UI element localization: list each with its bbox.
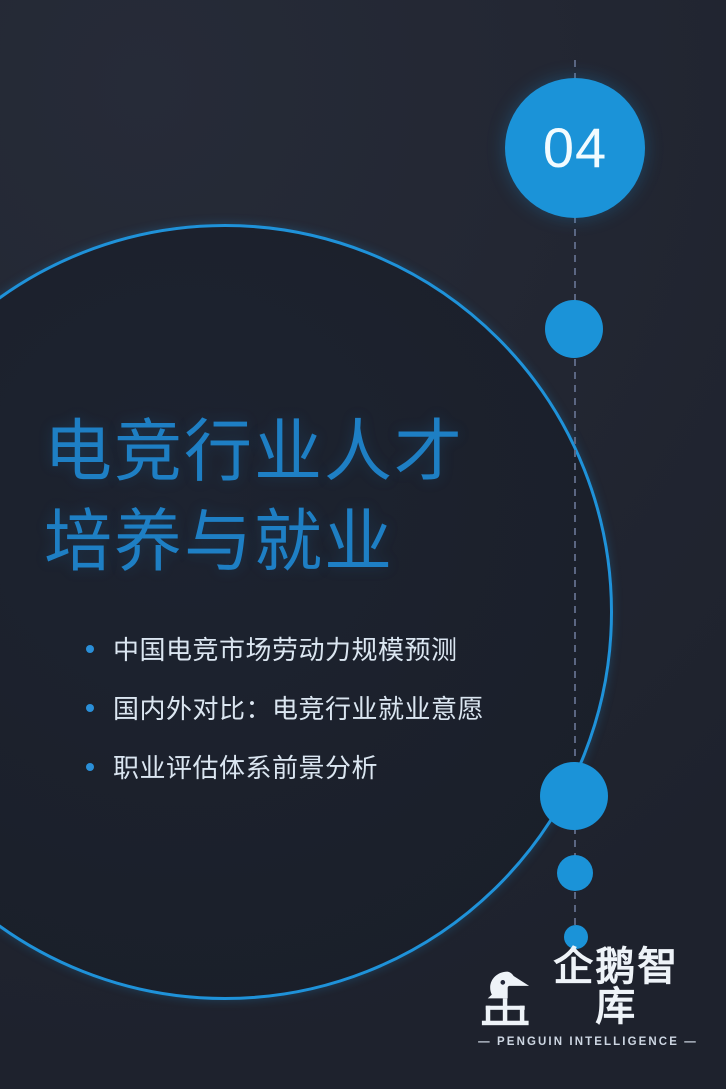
logo-name-cn: 企鹅智库 [535, 947, 699, 1027]
slide-title-line-1: 电竞行业人才 [44, 414, 464, 490]
penguin-icon [478, 965, 533, 1027]
bullet-dot-icon [86, 645, 94, 653]
list-item-label: 中国电竞市场劳动力规模预测 [113, 630, 458, 667]
list-item: 职业评估体系前景分析 [86, 748, 626, 785]
slide-canvas: 04 电竞行业人才 培养与就业 中国电竞市场劳动力规模预测 国内外对比：电竞行业… [0, 0, 726, 1089]
decorative-large-circle-outline [0, 224, 613, 1000]
agenda-list: 中国电竞市场劳动力规模预测 国内外对比：电竞行业就业意愿 职业评估体系前景分析 [86, 630, 626, 807]
decorative-dot-large [545, 300, 603, 358]
brand-logo: 企鹅智库 — PENGUIN INTELLIGENCE — [478, 965, 698, 1048]
decorative-dot-small [557, 855, 593, 891]
slide-title: 电竞行业人才 培养与就业 [44, 408, 604, 588]
section-number-label: 04 [543, 120, 607, 176]
bullet-dot-icon [86, 763, 94, 771]
slide-title-line-2: 培养与就业 [44, 498, 604, 588]
list-item: 中国电竞市场劳动力规模预测 [86, 630, 626, 667]
bullet-dot-icon [86, 704, 94, 712]
list-item: 国内外对比：电竞行业就业意愿 [86, 689, 626, 726]
list-item-label: 职业评估体系前景分析 [113, 748, 378, 785]
list-item-label: 国内外对比：电竞行业就业意愿 [113, 689, 484, 726]
section-number-badge: 04 [505, 78, 645, 218]
logo-mark: 企鹅智库 [478, 965, 698, 1027]
logo-tagline: — PENGUIN INTELLIGENCE — [478, 1036, 698, 1048]
